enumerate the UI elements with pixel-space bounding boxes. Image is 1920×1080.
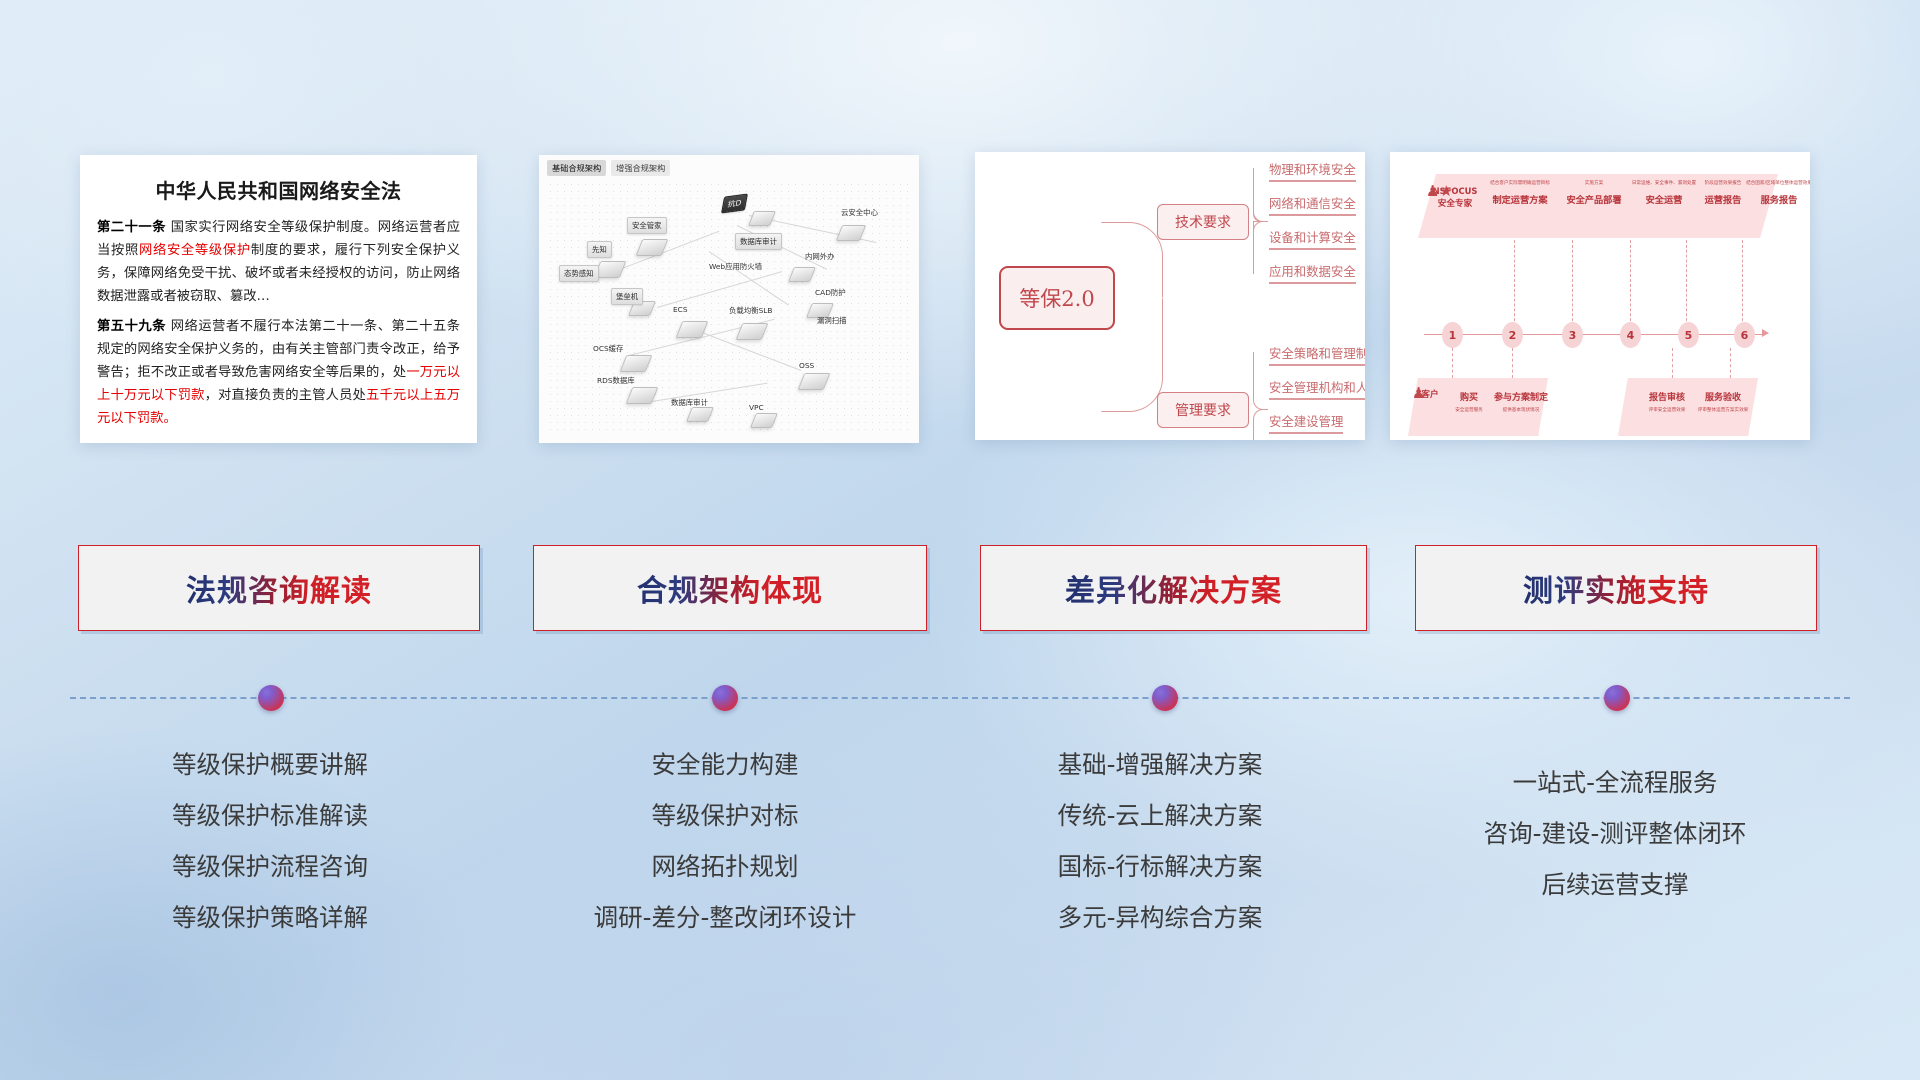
list-assessment-support: 一站式-全流程服务 咨询-建设-测评整体闭环 后续运营支撑 — [1400, 758, 1830, 911]
architecture-node-oss[interactable]: OSS — [795, 359, 818, 372]
article-21-number: 第二十一条 — [97, 220, 166, 235]
timeline-arrow-icon — [1762, 329, 1769, 337]
pill-compliance-architecture-label: 合规架构体现 — [637, 566, 823, 610]
architecture-node-rds[interactable]: RDS数据库 — [593, 373, 639, 388]
card-law-document[interactable]: 中华人民共和国网络安全法 第二十一条 国家实行网络安全等级保护制度。网络运营者应… — [80, 155, 477, 443]
provider-step-2-sub: 实施方案 — [1558, 180, 1630, 186]
mindmap-leaf-connector — [1253, 204, 1268, 222]
timeline-step-2[interactable]: 2 — [1502, 322, 1523, 348]
axis-knot-1[interactable] — [258, 685, 284, 711]
mindmap-leaf-network-comm[interactable]: 网络和通信安全 — [1269, 194, 1356, 216]
customer-step-participate-sub: 提供基本现状情况 — [1488, 407, 1554, 413]
timeline-step-5[interactable]: 5 — [1678, 322, 1699, 348]
provider-step-2-main: 安全产品部署 — [1558, 192, 1630, 206]
cards-row: 中华人民共和国网络安全法 第二十一条 国家实行网络安全等级保护制度。网络运营者应… — [0, 0, 1920, 460]
architecture-tabs: 基础合规架构 增强合规架构 — [547, 160, 670, 176]
timeline-dropper — [1512, 348, 1514, 378]
customer-step-purchase[interactable]: 购买 安全运营服务 — [1446, 390, 1492, 413]
timeline-axis — [1424, 334, 1762, 335]
timeline-canvas: ♟★ NSFOCUS 安全专家 结合客户实际需明确运营目标 制定运营方案 实施方… — [1390, 152, 1810, 440]
mindmap-leaf-connector — [1253, 409, 1268, 440]
list-item[interactable]: 等级保护对标 — [525, 791, 925, 842]
timeline-step-3[interactable]: 3 — [1562, 322, 1583, 348]
expert-badge: ♟★ NSFOCUS 安全专家 — [1426, 184, 1484, 209]
axis-knot-3[interactable] — [1152, 685, 1178, 711]
mindmap-leaf-physical-env[interactable]: 物理和环境安全 — [1269, 160, 1356, 182]
pill-compliance-architecture[interactable]: 合规架构体现 — [533, 545, 927, 631]
list-item[interactable]: 调研-差分-整改闭环设计 — [525, 893, 925, 944]
timeline-dropper — [1630, 240, 1632, 326]
list-item[interactable]: 一站式-全流程服务 — [1400, 758, 1830, 809]
pill-regulation-consulting-label: 法规咨询解读 — [186, 566, 372, 610]
pill-differentiated-solution-label: 差异化解决方案 — [1065, 566, 1282, 610]
list-item[interactable]: 国标-行标解决方案 — [960, 842, 1360, 893]
timeline-dropper — [1686, 240, 1688, 326]
timeline-step-1[interactable]: 1 — [1442, 322, 1463, 348]
customer-step-report-review[interactable]: 报告审核 评审安全运营效果 — [1636, 390, 1698, 413]
mindmap-leaf-policy-system[interactable]: 安全策略和管理制度 — [1269, 344, 1365, 366]
architecture-node-cloud-security-center[interactable]: 云安全中心 — [837, 205, 882, 220]
architecture-node-ocs-cache[interactable]: OCS缓存 — [589, 341, 627, 356]
customer-step-purchase-sub: 安全运营服务 — [1446, 407, 1492, 413]
list-compliance-architecture: 安全能力构建 等级保护对标 网络拓扑规划 调研-差分-整改闭环设计 — [525, 740, 925, 944]
law-document-body: 中华人民共和国网络安全法 第二十一条 国家实行网络安全等级保护制度。网络运营者应… — [80, 155, 477, 443]
list-item[interactable]: 基础-增强解决方案 — [960, 740, 1360, 791]
architecture-node-situational-awareness[interactable]: 态势感知 — [559, 265, 599, 282]
tab-basic-compliance[interactable]: 基础合规架构 — [547, 160, 606, 176]
customer-step-acceptance-sub: 评审整体运营方案实效果 — [1690, 407, 1756, 413]
list-differentiated-solution: 基础-增强解决方案 传统-云上解决方案 国标-行标解决方案 多元-异构综合方案 — [960, 740, 1360, 944]
timeline-dropper — [1672, 348, 1674, 378]
list-item[interactable]: 网络拓扑规划 — [525, 842, 925, 893]
provider-step-1-main: 制定运营方案 — [1484, 192, 1556, 206]
architecture-node-slb[interactable]: 负载均衡SLB — [725, 303, 776, 318]
list-item[interactable]: 多元-异构综合方案 — [960, 893, 1360, 944]
law-article-59: 第五十九条 网络运营者不履行本法第二十一条、第二十五条规定的网络安全保护义务的，… — [97, 316, 460, 430]
main-dashed-axis — [70, 697, 1850, 701]
list-item[interactable]: 安全能力构建 — [525, 740, 925, 791]
customer-badge: ♟ 客户 — [1412, 386, 1448, 400]
architecture-node-db-audit-top[interactable]: 数据库审计 — [735, 233, 782, 250]
card-mindmap[interactable]: 等保2.0 技术要求 管理要求 物理和环境安全 网络和通信安全 设备和计算安全 … — [975, 152, 1365, 440]
list-item[interactable]: 后续运营支撑 — [1400, 860, 1830, 911]
law-article-21: 第二十一条 国家实行网络安全等级保护制度。网络运营者应当按照网络安全等级保护制度… — [97, 217, 460, 308]
pill-differentiated-solution[interactable]: 差异化解决方案 — [980, 545, 1367, 631]
customer-step-participate[interactable]: 参与方案制定 提供基本现状情况 — [1488, 390, 1554, 413]
provider-step-2[interactable]: 实施方案 安全产品部署 — [1558, 180, 1630, 206]
architecture-node-xianzhi[interactable]: 先知 — [587, 241, 612, 258]
article-59-number: 第五十九条 — [97, 319, 166, 334]
list-item[interactable]: 等级保护概要讲解 — [70, 740, 470, 791]
mindmap-leaf-device-compute[interactable]: 设备和计算安全 — [1269, 228, 1356, 250]
list-regulation-consulting: 等级保护概要讲解 等级保护标准解读 等级保护流程咨询 等级保护策略详解 — [70, 740, 470, 944]
mindmap-root-node[interactable]: 等保2.0 — [999, 266, 1115, 330]
provider-step-5[interactable]: 结合国家/区域单位整体运营效果 服务报告 — [1742, 180, 1810, 206]
article-59-seg-2: ，对直接负责的主管人员处 — [205, 388, 366, 403]
mindmap-canvas: 等保2.0 技术要求 管理要求 物理和环境安全 网络和通信安全 设备和计算安全 … — [975, 152, 1365, 440]
axis-knot-4[interactable] — [1604, 685, 1630, 711]
timeline-dropper — [1514, 240, 1516, 326]
pill-assessment-support-label: 测评实施支持 — [1523, 566, 1709, 610]
list-item[interactable]: 咨询-建设-测评整体闭环 — [1400, 809, 1830, 860]
architecture-node-intranet-office[interactable]: 内网外办 — [801, 249, 839, 264]
person-star-icon: ♟★ — [1426, 184, 1453, 199]
tab-enhanced-compliance[interactable]: 增强合规架构 — [611, 160, 670, 176]
bottom-lists-row: 等级保护概要讲解 等级保护标准解读 等级保护流程咨询 等级保护策略详解 安全能力… — [0, 740, 1920, 990]
axis-knot-2[interactable] — [712, 685, 738, 711]
customer-step-purchase-main: 购买 — [1446, 390, 1492, 403]
mindmap-branch-management[interactable]: 管理要求 — [1157, 392, 1249, 428]
pill-button-row: 法规咨询解读 合规架构体现 差异化解决方案 测评实施支持 — [0, 545, 1920, 655]
architecture-node-bastion-host[interactable]: 堡垒机 — [611, 288, 643, 305]
timeline-dropper — [1730, 348, 1732, 378]
timeline-step-6[interactable]: 6 — [1734, 322, 1755, 348]
architecture-node-cad-protection[interactable]: CAD防护 — [811, 285, 850, 300]
customer-step-acceptance[interactable]: 服务验收 评审整体运营方案实效果 — [1690, 390, 1756, 413]
mindmap-branch-technical[interactable]: 技术要求 — [1157, 204, 1249, 240]
architecture-canvas: 基础合规架构 增强合规架构 — [539, 155, 919, 443]
architecture-node-ecs[interactable]: ECS — [669, 303, 692, 316]
architecture-node-vpc[interactable]: VPC — [745, 401, 768, 414]
timeline-step-4[interactable]: 4 — [1620, 322, 1641, 348]
customer-step-report-review-sub: 评审安全运营效果 — [1636, 407, 1698, 413]
card-service-timeline[interactable]: ♟★ NSFOCUS 安全专家 结合客户实际需明确运营目标 制定运营方案 实施方… — [1390, 152, 1810, 440]
mindmap-leaf-app-data[interactable]: 应用和数据安全 — [1269, 262, 1356, 284]
timeline-dropper — [1572, 240, 1574, 326]
provider-step-1-sub: 结合客户实际需明确运营目标 — [1484, 180, 1556, 186]
mindmap-leaf-org-personnel[interactable]: 安全管理机构和人员 — [1269, 378, 1365, 400]
provider-step-5-sub: 结合国家/区域单位整体运营效果 — [1742, 180, 1810, 186]
pill-regulation-consulting[interactable]: 法规咨询解读 — [78, 545, 480, 631]
customer-step-acceptance-main: 服务验收 — [1690, 390, 1756, 403]
card-architecture-diagram[interactable]: 基础合规架构 增强合规架构 — [539, 155, 919, 443]
list-item[interactable]: 等级保护标准解读 — [70, 791, 470, 842]
provider-step-5-main: 服务报告 — [1742, 192, 1810, 206]
list-item[interactable]: 等级保护策略详解 — [70, 893, 470, 944]
customer-step-participate-main: 参与方案制定 — [1488, 390, 1554, 403]
architecture-node-waf[interactable]: Web应用防火墙 — [705, 259, 766, 274]
law-document-title: 中华人民共和国网络安全法 — [97, 175, 460, 204]
timeline-dropper — [1452, 348, 1454, 378]
architecture-node-vuln-scan[interactable]: 漏洞扫描 — [813, 313, 851, 328]
pill-assessment-support[interactable]: 测评实施支持 — [1415, 545, 1817, 631]
mindmap-leaf-connector — [1253, 221, 1268, 274]
list-item[interactable]: 等级保护流程咨询 — [70, 842, 470, 893]
customer-person-icon: ♟ — [1412, 386, 1425, 401]
article-21-seg-1: 网络安全等级保护 — [139, 243, 251, 258]
architecture-node-security-steward[interactable]: 安全管家 — [627, 217, 667, 234]
provider-step-1[interactable]: 结合客户实际需明确运营目标 制定运营方案 — [1484, 180, 1556, 206]
list-item[interactable]: 传统-云上解决方案 — [960, 791, 1360, 842]
customer-step-report-review-main: 报告审核 — [1636, 390, 1698, 403]
mindmap-leaf-construction-mgmt[interactable]: 安全建设管理 — [1269, 412, 1343, 434]
mindmap-leaf-connector — [1253, 352, 1268, 410]
timeline-dropper — [1742, 240, 1744, 326]
architecture-node-db-audit-bottom[interactable]: 数据库审计 — [667, 395, 712, 410]
